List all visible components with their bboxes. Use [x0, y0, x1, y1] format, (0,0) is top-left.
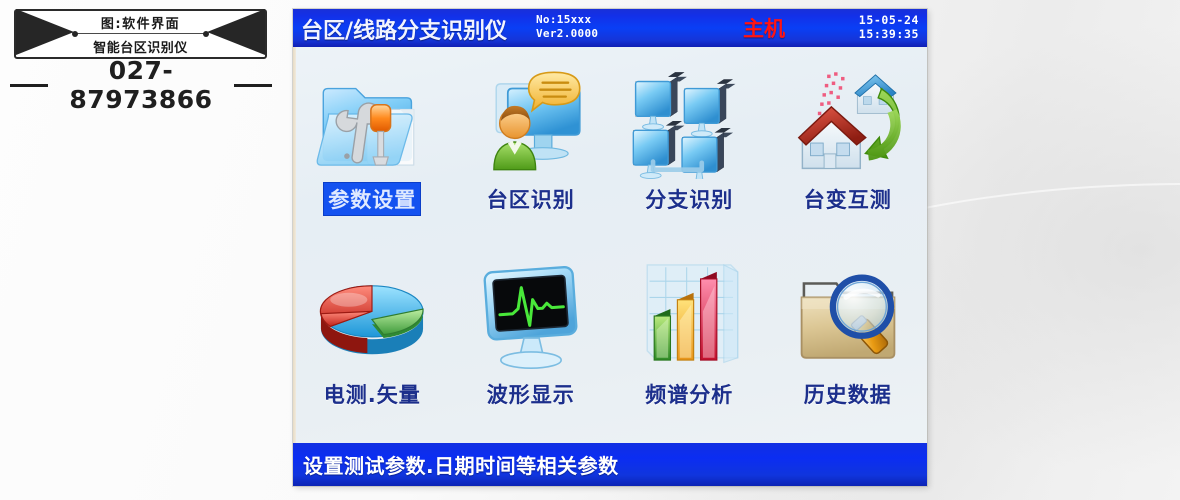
arrow-right-icon: [16, 9, 74, 55]
phone-number: 027-87973866: [48, 56, 234, 114]
menu-item-bar-chart[interactable]: 频谱分析: [610, 248, 769, 443]
menu-item-label: 分支识别: [641, 183, 737, 215]
date-display: 15-05-24: [859, 13, 919, 27]
device-screen: 台区/线路分支识别仪 No:15xxx Ver2.0000 主机 15-05-2…: [293, 9, 927, 486]
menu-grid: 参数设置 台区识别: [293, 53, 927, 443]
folder-magnifier-icon: [790, 258, 906, 374]
bar-chart-icon: [631, 258, 747, 374]
menu-item-label: 历史数据: [800, 378, 896, 410]
menu-item-label: 电测.矢量: [320, 378, 425, 410]
menu-item-label: 频谱分析: [641, 378, 737, 410]
status-text: 设置测试参数.日期时间等相关参数: [293, 450, 619, 479]
pie-chart-icon: [314, 258, 430, 374]
time-display: 15:39:35: [859, 27, 919, 41]
menu-item-label: 台区识别: [483, 183, 579, 215]
phone-number-row: 027-87973866: [10, 68, 272, 102]
houses-sync-arrow-icon: [790, 63, 906, 179]
caption-line-1: 图:软件界面: [72, 13, 209, 32]
status-bar: 设置测试参数.日期时间等相关参数: [293, 443, 927, 486]
waveform-monitor-icon: [473, 258, 589, 374]
page-background: 图:软件界面 智能台区识别仪 027-87973866 台区/线路分支识别仪 N…: [0, 0, 1180, 500]
mode-badge: 主机: [743, 13, 785, 43]
caption-divider: [74, 33, 207, 34]
app-title: 台区/线路分支识别仪: [301, 13, 507, 45]
menu-item-folder-magnifier[interactable]: 历史数据: [769, 248, 928, 443]
arrow-left-icon: [207, 9, 265, 55]
menu-item-network-monitors[interactable]: 分支识别: [610, 53, 769, 248]
menu-item-folder-wrench-settings[interactable]: 参数设置: [293, 53, 452, 248]
device-serial: No:15xxx: [536, 13, 591, 26]
title-bar: 台区/线路分支识别仪 No:15xxx Ver2.0000 主机 15-05-2…: [293, 9, 927, 47]
menu-item-pie-chart[interactable]: 电测.矢量: [293, 248, 452, 443]
menu-item-houses-sync-arrow[interactable]: 台变互测: [769, 53, 928, 248]
caption-line-2: 智能台区识别仪: [72, 37, 209, 56]
device-version: Ver2.0000: [536, 27, 598, 40]
menu-item-label: 参数设置: [324, 183, 420, 215]
network-monitors-icon: [631, 63, 747, 179]
menu-item-label: 波形显示: [483, 378, 579, 410]
caption-banner: 图:软件界面 智能台区识别仪: [14, 9, 267, 59]
phone-rule-right: [234, 84, 272, 87]
folder-wrench-settings-icon: [314, 63, 430, 179]
user-monitor-chat-icon: [473, 63, 589, 179]
menu-item-user-monitor-chat[interactable]: 台区识别: [452, 53, 611, 248]
menu-item-waveform-monitor[interactable]: 波形显示: [452, 248, 611, 443]
phone-rule-left: [10, 84, 48, 87]
menu-item-label: 台变互测: [800, 183, 896, 215]
